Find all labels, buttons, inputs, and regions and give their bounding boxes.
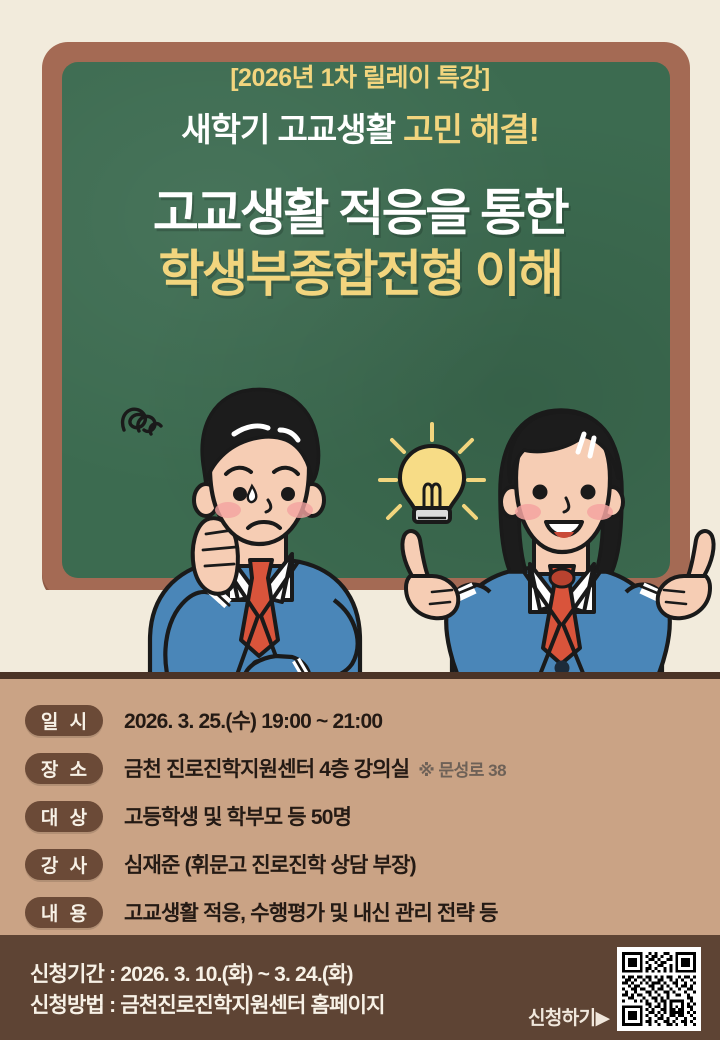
scribble-doodle	[123, 409, 161, 434]
info-label-datetime: 일 시	[25, 705, 103, 736]
info-row: 대 상 고등학생 및 학부모 등 50명	[0, 792, 720, 840]
poster-root: [2026년 1차 릴레이 특강] 새학기 고교생활 고민 해결! 고교생활 적…	[0, 0, 720, 1040]
info-row: 일 시 2026. 3. 25.(수) 19:00 ~ 21:00	[0, 696, 720, 744]
desk-edge	[0, 672, 720, 679]
info-row: 강 사 심재준 (휘문고 진로진학 상담 부장)	[0, 840, 720, 888]
info-value-datetime: 2026. 3. 25.(수) 19:00 ~ 21:00	[124, 705, 382, 735]
application-method: 신청방법 : 금천진로진학지원센터 홈페이지	[30, 990, 385, 1021]
info-label-content: 내 용	[25, 897, 103, 928]
qr-code-graphic	[622, 952, 696, 1026]
event-info-section: 일 시 2026. 3. 25.(수) 19:00 ~ 21:00 장 소 금천…	[0, 679, 720, 935]
qr-code[interactable]	[617, 947, 701, 1031]
info-note-location: ※ 문성로 38	[418, 756, 506, 781]
footer-text-block: 신청기간 : 2026. 3. 10.(화) ~ 3. 24.(화) 신청방법 …	[30, 959, 385, 1021]
info-label-location: 장 소	[25, 753, 103, 784]
male-student-figure	[150, 389, 360, 700]
info-row: 장 소 금천 진로진학지원센터 4층 강의실 ※ 문성로 38	[0, 744, 720, 792]
application-period: 신청기간 : 2026. 3. 10.(화) ~ 3. 24.(화)	[30, 959, 385, 990]
info-value-audience: 고등학생 및 학부모 등 50명	[124, 801, 351, 831]
info-row: 내 용 고교생활 적응, 수행평가 및 내신 관리 전략 등	[0, 888, 720, 936]
lightbulb-icon	[380, 424, 484, 522]
footer-section: 신청기간 : 2026. 3. 10.(화) ~ 3. 24.(화) 신청방법 …	[0, 935, 720, 1040]
student-illustration	[0, 0, 720, 700]
info-value-content: 고교생활 적응, 수행평가 및 내신 관리 전략 등	[124, 897, 498, 927]
info-label-audience: 대 상	[25, 801, 103, 832]
info-label-lecturer: 강 사	[25, 849, 103, 880]
apply-cta-label[interactable]: 신청하기▶	[528, 1003, 610, 1030]
info-value-lecturer: 심재준 (휘문고 진로진학 상담 부장)	[124, 849, 416, 879]
info-value-location: 금천 진로진학지원센터 4층 강의실	[124, 753, 409, 783]
